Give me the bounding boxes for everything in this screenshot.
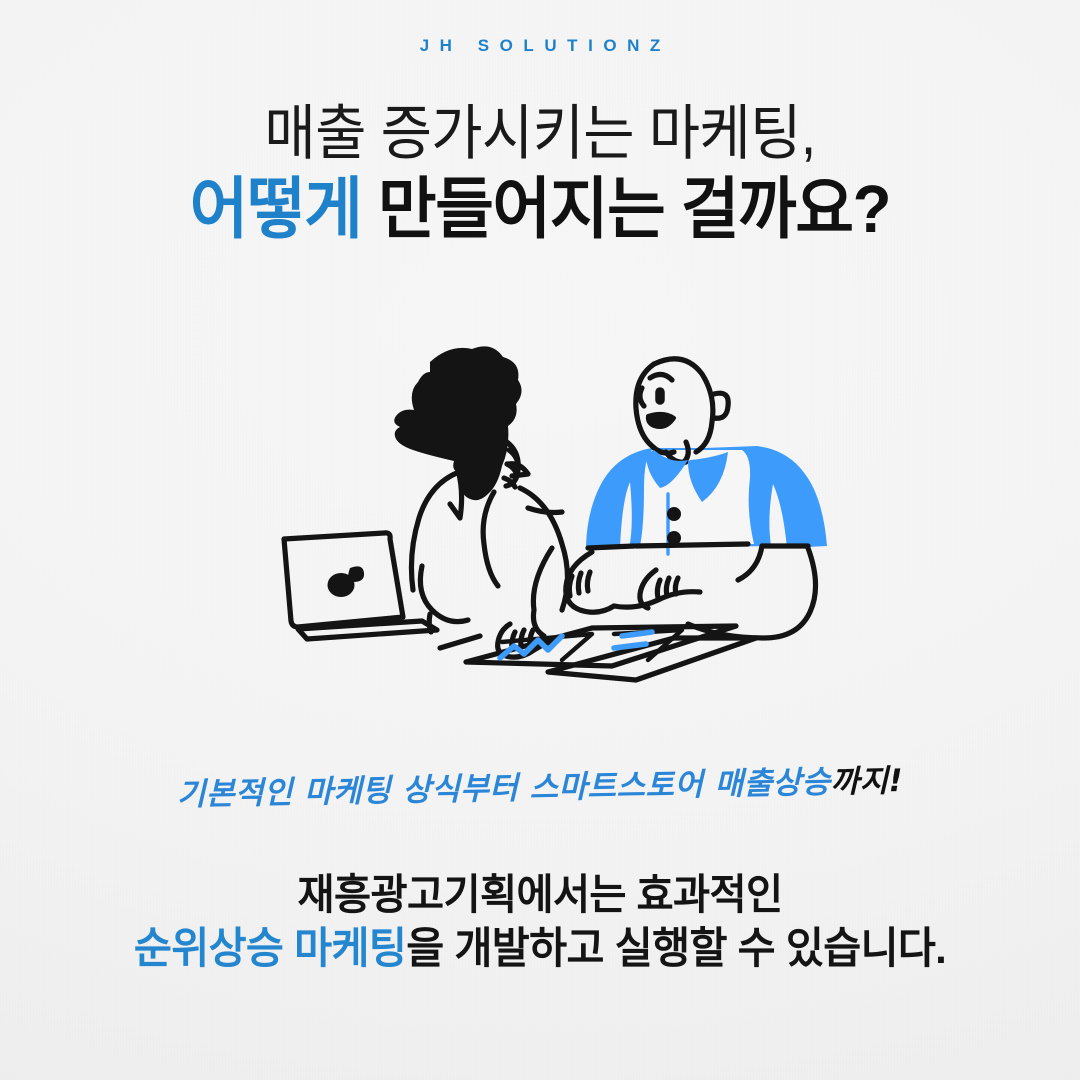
illustration-canvas bbox=[262, 342, 842, 717]
laptop-logo-icon bbox=[328, 566, 365, 597]
headline-line-2-rest: 만들어지는 걸까요? bbox=[378, 172, 890, 247]
hero-illustration bbox=[262, 342, 842, 717]
closing-accent-phrase: 순위상승 마케팅 bbox=[134, 925, 406, 973]
brand-wordmark: JH SOLUTIONZ bbox=[0, 36, 1080, 56]
closing-line-2: 순위상승 마케팅을 개발하고 실행할 수 있습니다. bbox=[22, 922, 1059, 977]
handwritten-black-part: 까지! bbox=[830, 763, 903, 800]
handwritten-subline: 기본적인 마케팅 상식부터 스마트스토어 매출상승까지! bbox=[0, 752, 1080, 818]
handwritten-blue-part: 기본적인 마케팅 상식부터 스마트스토어 매출상승 bbox=[177, 764, 831, 813]
man-figure bbox=[566, 359, 827, 638]
closing-line-1: 재흥광고기획에서는 효과적인 bbox=[22, 868, 1059, 922]
promo-card: JH SOLUTIONZ 매출 증가시키는 마케팅, 어떻게 만들어지는 걸까요… bbox=[0, 0, 1080, 1080]
woman-figure bbox=[394, 346, 567, 657]
page-title: 매출 증가시키는 마케팅, 어떻게 만들어지는 걸까요? bbox=[0, 100, 1080, 247]
headline-line-1: 매출 증가시키는 마케팅, bbox=[38, 100, 1042, 167]
shirt-button-upper bbox=[667, 507, 681, 521]
report-papers bbox=[440, 626, 756, 680]
closing-line-2-rest: 을 개발하고 실행할 수 있습니다. bbox=[406, 925, 946, 973]
headline-accent-word: 어떻게 bbox=[190, 172, 362, 247]
headline-line-2: 어떻게 만들어지는 걸까요? bbox=[27, 173, 1053, 247]
closing-message: 재흥광고기획에서는 효과적인 순위상승 마케팅을 개발하고 실행할 수 있습니다… bbox=[0, 868, 1080, 977]
